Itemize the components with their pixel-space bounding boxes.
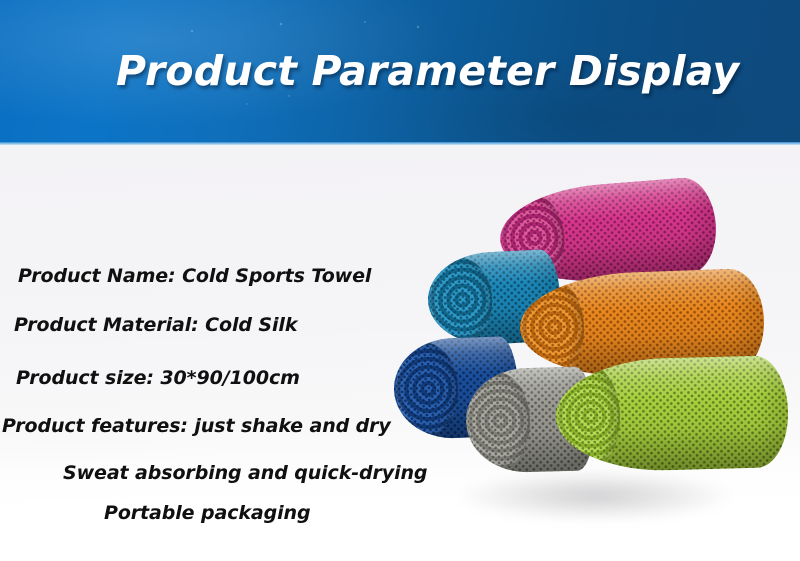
green-towel [555,355,790,473]
page-title: Product Parameter Display [116,47,739,95]
header-banner: Product Parameter Display [0,0,800,142]
spec-line-product-size: Product size: 30*90/100cm [16,367,300,389]
product-parameter-page: Product Parameter Display Product Name: … [0,0,800,561]
spec-line-product-material: Product Material: Cold Silk [14,314,297,336]
spec-line-product-features: Product features: just shake and dry [2,415,391,437]
spec-line-product-name: Product Name: Cold Sports Towel [18,265,371,287]
product-photo [380,160,800,561]
spec-line-portable-packaging: Portable packaging [104,502,310,524]
spec-line-sweat-absorbing: Sweat absorbing and quick-drying [63,462,427,484]
